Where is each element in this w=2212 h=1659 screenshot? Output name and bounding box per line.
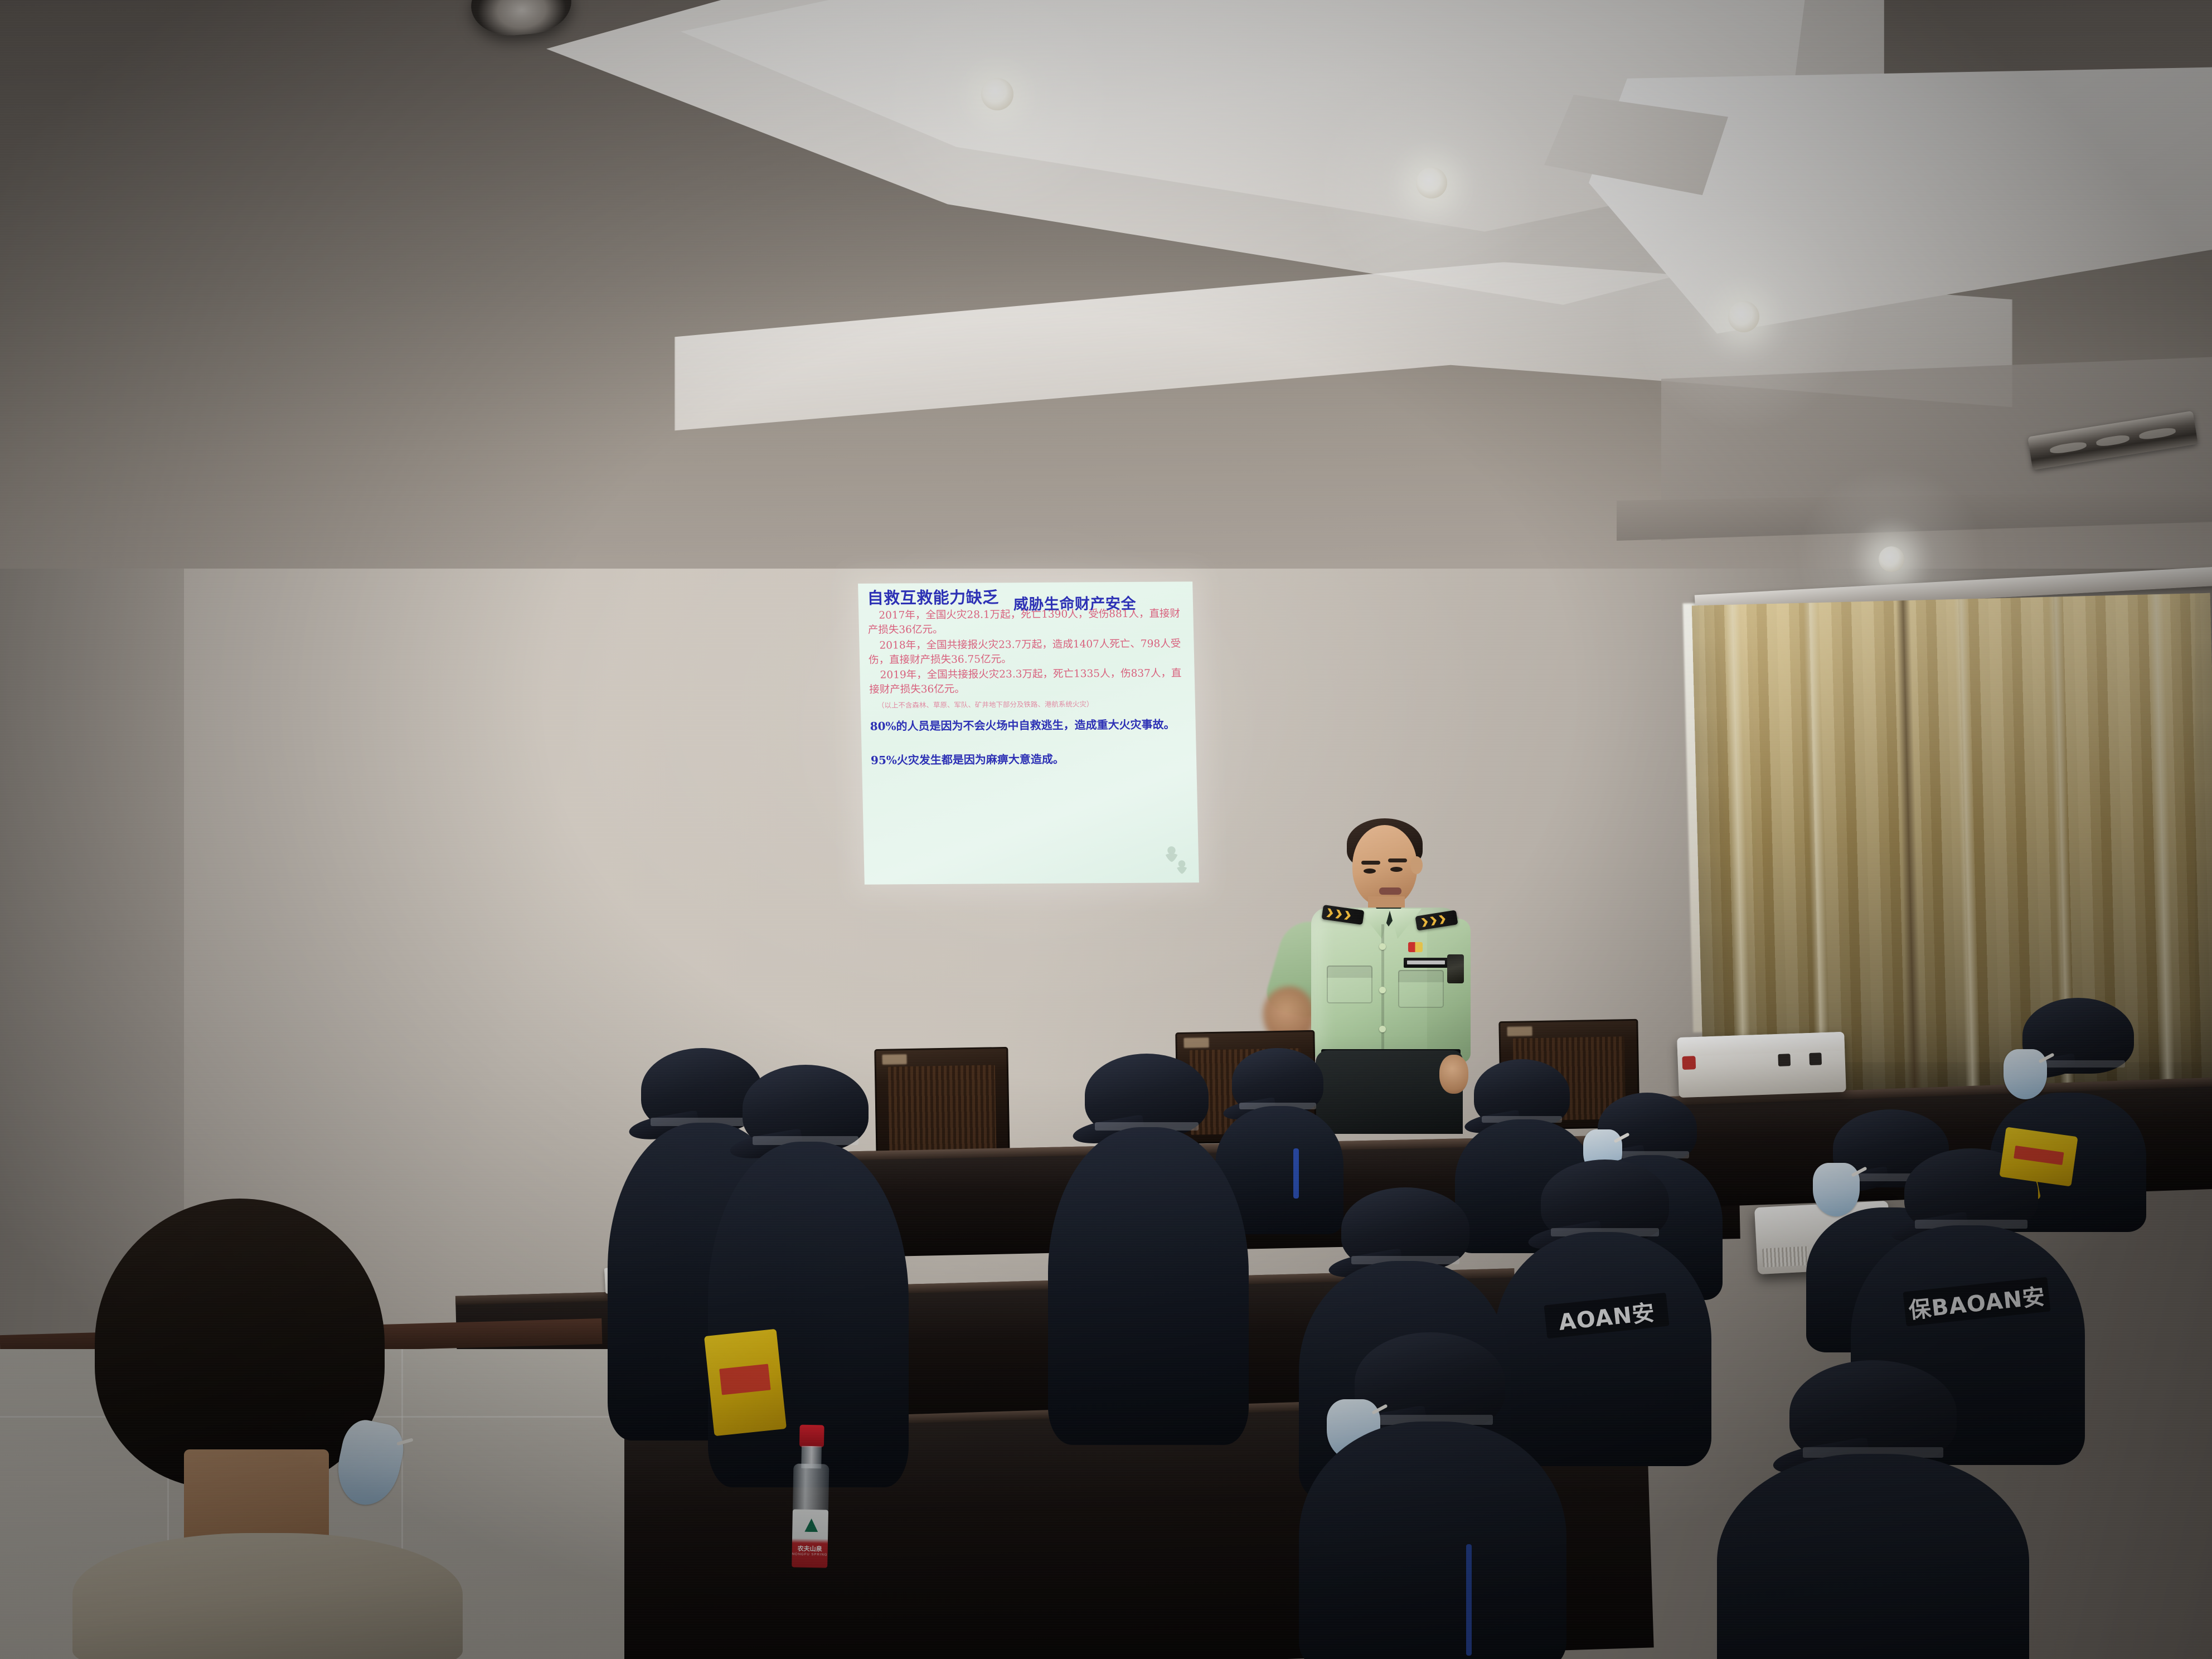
attendee [1048, 1054, 1249, 1444]
uniform-cap [1789, 1360, 1957, 1466]
attendee-shoulders [1717, 1454, 2029, 1659]
slide-title-right: 威胁生命财产安全 [1013, 596, 1137, 612]
slide-stat-2019: 2019年，全国共接报火灾23.3万起，死亡1335人，伤837人，直接财产损失… [869, 666, 1187, 697]
projected-slide: 自救互救能力缺乏 威胁生命财产安全 2017年，全国火灾28.1万起，死亡139… [858, 581, 1199, 885]
slide-title: 自救互救能力缺乏 威胁生命财产安全 [867, 588, 1185, 606]
slide-highlight-80: 80%的人员是因为不会火场中自救逃生，造成重大火灾事故。 [870, 717, 1188, 734]
mountain-peak-icon [804, 1519, 818, 1532]
bottle-brand-en: NONGFU SPRING [792, 1553, 828, 1556]
slide-title-left: 自救互救能力缺乏 [867, 589, 999, 606]
presenter-ear [1410, 856, 1423, 874]
presenter-mouth [1379, 887, 1401, 895]
foreground-attendee [72, 1199, 463, 1659]
slide-highlight-95-pct: 95% [871, 753, 897, 767]
slide-decorative-emblem [1160, 843, 1191, 877]
presenter-eye-left [1364, 869, 1376, 874]
presenter-brow-left [1361, 861, 1380, 865]
presenter-arm-patch-icon [1447, 954, 1464, 983]
uniform-cap [1341, 1187, 1469, 1271]
lecture-room-photo: 自救互救能力缺乏 威胁生命财产安全 2017年，全国火灾28.1万起，死亡139… [0, 0, 2212, 1659]
downlight-icon [1728, 301, 1759, 332]
slide-highlight-80-pct: 80% [870, 719, 896, 733]
slide-stat-2018: 2018年，全国共接报火灾23.7万起，造成1407人死亡、798人受伤，直接财… [868, 637, 1186, 668]
water-bottle: 农夫山泉 NONGFU SPRING [789, 1424, 832, 1592]
presenter-name-tag [1404, 958, 1448, 968]
uniform-cap [743, 1065, 869, 1152]
uniform-cap [1541, 1160, 1669, 1243]
presenter-pocket-right [1398, 970, 1444, 1008]
foreground-attendee-head [95, 1199, 385, 1488]
armband [704, 1329, 787, 1437]
attendee [1717, 1360, 2029, 1659]
attendee-shoulders [1048, 1127, 1249, 1445]
bottle-label: 农夫山泉 NONGFU SPRING [792, 1509, 828, 1568]
uniform-cap [1474, 1059, 1570, 1128]
presenter-brow-right [1388, 858, 1407, 862]
slide-body: 2017年，全国火灾28.1万起，死亡1390人，受伤881人，直接财产损失36… [867, 607, 1189, 768]
face-mask [2004, 1049, 2047, 1099]
presenter-button [1379, 987, 1386, 993]
foreground-attendee-sweater [72, 1533, 463, 1659]
downlight-icon [1416, 167, 1447, 198]
armband [1999, 1127, 2078, 1186]
uniform-cap [1085, 1054, 1209, 1137]
presenter-pocket-left [1327, 966, 1372, 1003]
slide-highlight-80-text: 的人员是因为不会火场中自救逃生，造成重大火灾事故。 [896, 717, 1175, 733]
lanyard [1466, 1544, 1472, 1656]
attendee [1299, 1332, 1566, 1659]
presenter-eye-right [1390, 867, 1403, 872]
presenter-flag-badge-icon [1408, 942, 1423, 952]
presenter-button [1379, 1026, 1386, 1032]
attendee-shoulders [1299, 1422, 1566, 1659]
projector-case [1677, 1032, 1846, 1098]
downlight-icon [1879, 546, 1904, 572]
slide-highlight-95: 95%火灾发生都是因为麻痹大意造成。 [871, 751, 1189, 768]
lanyard [1293, 1148, 1299, 1199]
bottle-cap [799, 1425, 824, 1448]
presenter-button [1379, 943, 1386, 950]
slide-footnote: （以上不含森林、草原、军队、矿井地下部分及铁路、港航系统火灾） [877, 699, 1187, 710]
slide-highlight-95-text: 火灾发生都是因为麻痹大意造成。 [897, 752, 1065, 767]
downlight-icon [981, 78, 1013, 110]
bottle-brand-cn: 农夫山泉 [792, 1544, 828, 1553]
